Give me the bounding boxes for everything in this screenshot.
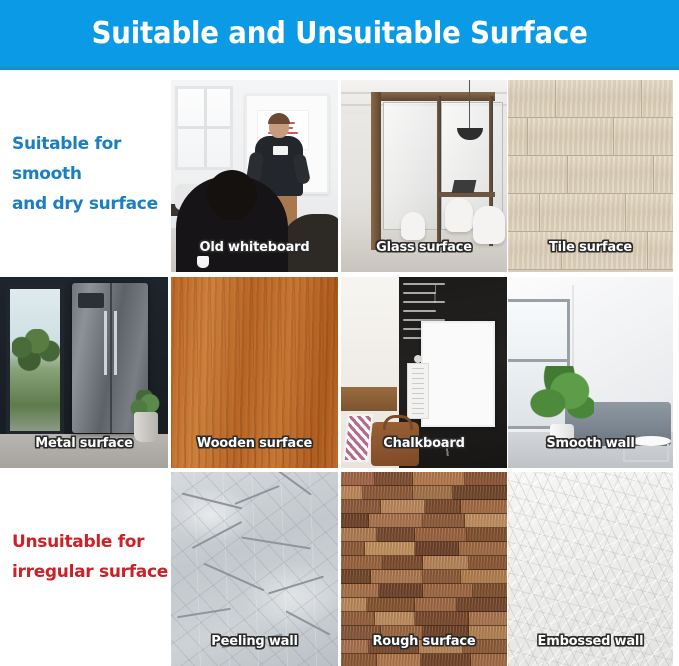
surface-row-unsuitable: Peeling wall [0,472,679,666]
surface-row-suitable-1: Old whiteboard G [0,80,679,272]
surface-tile-smooth-wall[interactable]: Smooth wall [508,277,673,468]
tile-texture-photo-icon [508,80,673,272]
surface-tile-glass-surface[interactable]: Glass surface [341,80,507,272]
embossed-texture-photo-icon [508,472,673,666]
surface-grid: Old whiteboard G [0,73,679,666]
surface-tile-old-whiteboard[interactable]: Old whiteboard [171,80,338,272]
whiteboard-photo-icon [171,80,338,272]
glass-partition-photo-icon [341,80,507,272]
wood-grain-photo-icon [171,277,338,468]
surface-tile-embossed-wall[interactable]: Embossed wall [508,472,673,666]
surface-tile-chalkboard[interactable]: Chalkboard [341,277,507,468]
surface-tile-peeling-wall[interactable]: Peeling wall [171,472,338,666]
chalkboard-photo-icon [341,277,507,468]
surface-row-suitable-2: Metal surface Wooden surface Chalkboard [0,277,679,468]
stacked-stone-photo-icon [341,472,507,666]
refrigerator-photo-icon [0,277,168,468]
surface-tile-wooden-surface[interactable]: Wooden surface [171,277,338,468]
page-header: Suitable and Unsuitable Surface [0,0,679,70]
surface-tile-metal-surface[interactable]: Metal surface [0,277,168,468]
living-room-photo-icon [508,277,673,468]
surface-tile-tile-surface[interactable]: Tile surface [508,80,673,272]
page-title: Suitable and Unsuitable Surface [91,16,587,51]
peeling-paint-photo-icon [171,472,338,666]
surface-tile-rough-surface[interactable]: Rough surface [341,472,507,666]
